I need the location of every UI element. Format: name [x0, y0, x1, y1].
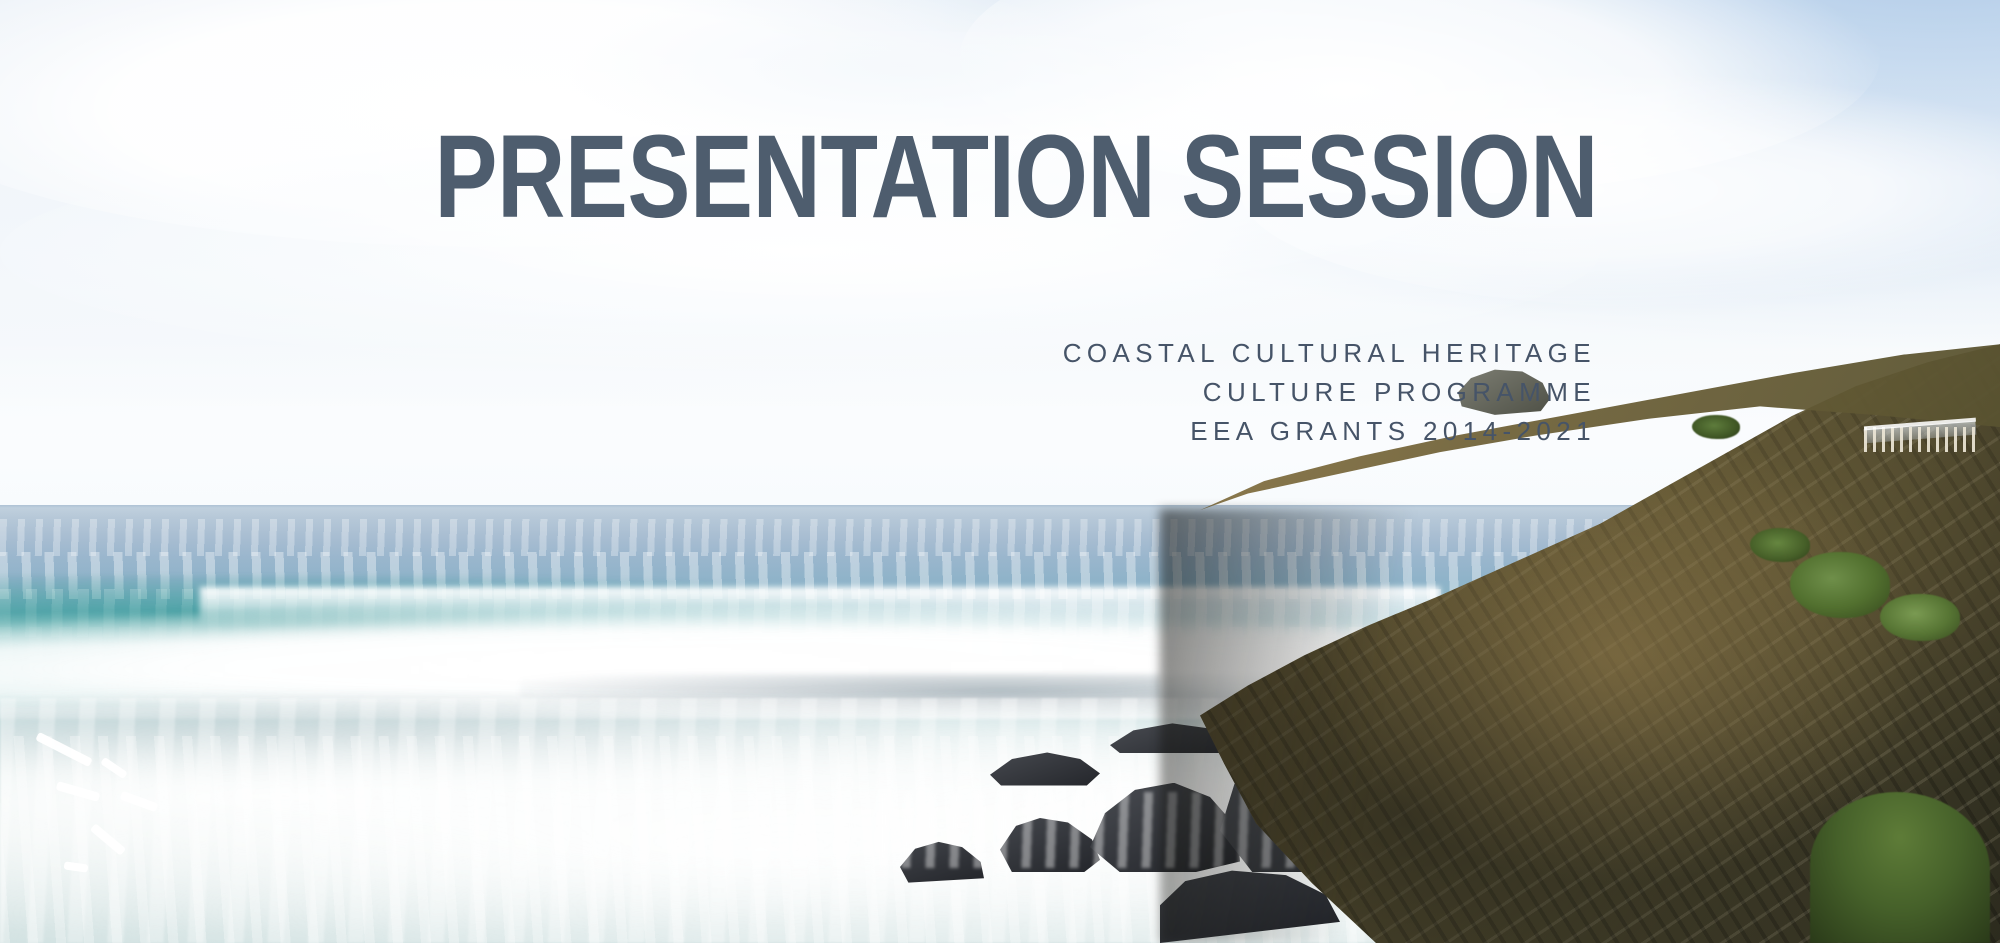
presentation-title-slide: PRESENTATION SESSION COASTAL CULTURAL HE… [0, 0, 2000, 943]
page-title: PRESENTATION SESSION [320, 118, 1598, 236]
subtitle-line-3: EEA GRANTS 2014-2021 [0, 412, 1598, 451]
subtitle-line-1: COASTAL CULTURAL HERITAGE [0, 334, 1598, 373]
subtitle-block: COASTAL CULTURAL HERITAGE CULTURE PROGRA… [0, 334, 1598, 451]
subtitle-line-2: CULTURE PROGRAMME [0, 373, 1598, 412]
